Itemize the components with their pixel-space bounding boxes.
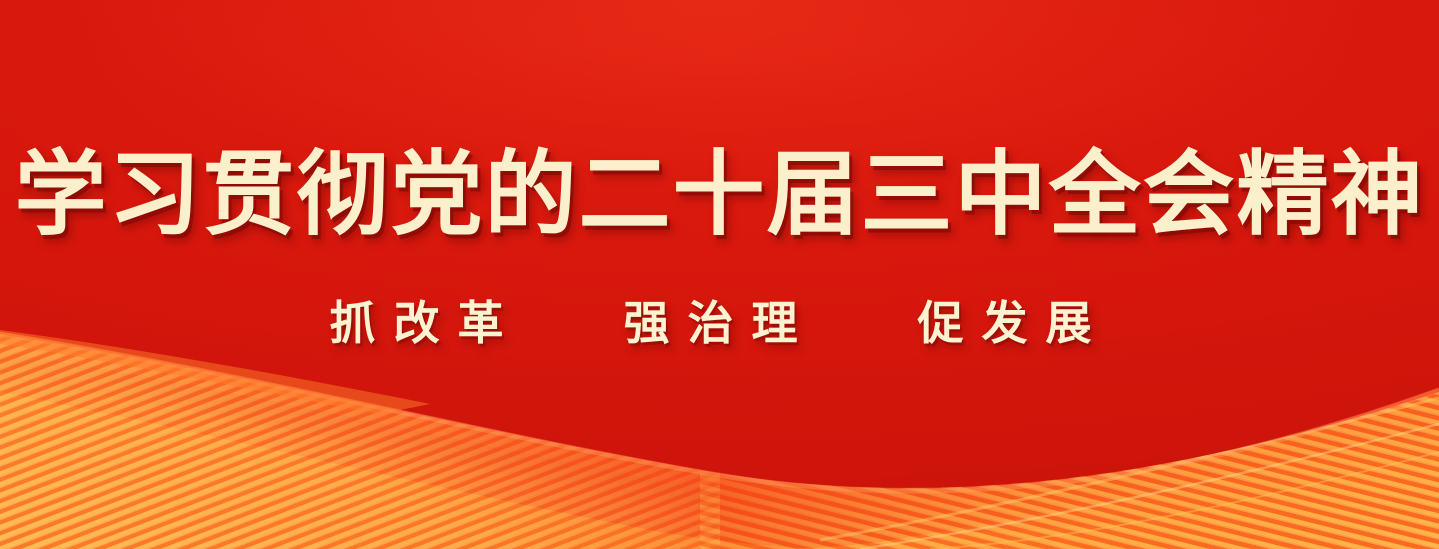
background-ribbon-artwork <box>0 0 1439 549</box>
bottom-left-gold-stripe-fan <box>0 300 740 549</box>
banner-root: 学习贯彻党的二十届三中全会精神 抓改革 强治理 促发展 <box>0 0 1439 549</box>
